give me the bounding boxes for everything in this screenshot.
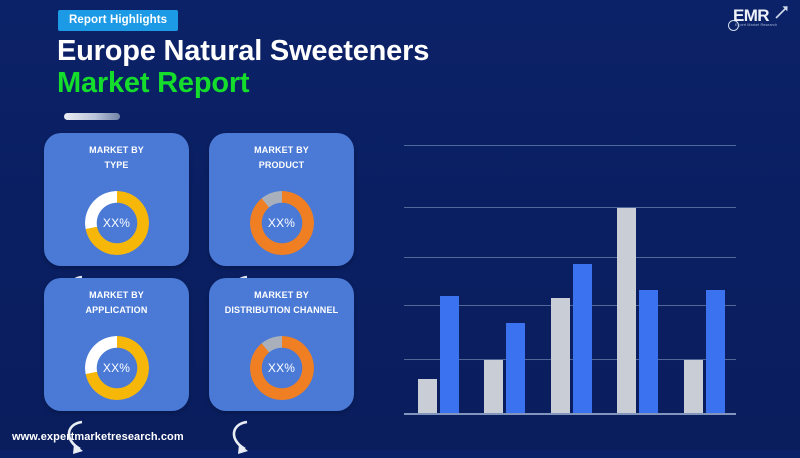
website-url: www.expertmarketresearch.com [12,431,184,443]
donut-value-3: XX% [250,336,314,400]
donut-chart-1: XX% [250,191,314,255]
card-market-by-application[interactable]: MARKET BY APPLICATION XX% [44,278,189,411]
card-title-line-1: MARKET BY [254,145,309,155]
card-title-0: MARKET BY TYPE [48,143,185,173]
growth-arrow-icon [774,4,790,20]
card-title-line-2: APPLICATION [86,305,148,315]
card-title-2: MARKET BY APPLICATION [48,288,185,318]
donut-chart-3: XX% [250,336,314,400]
chart-bar [573,264,592,414]
emr-logo: EMR Expert Market Research [728,4,792,34]
logo-wordmark: EMR [733,7,769,24]
curved-arrow-icon-4 [227,418,253,458]
card-title-line-2: PRODUCT [259,160,305,170]
donut-value-2: XX% [85,336,149,400]
title-underline-bar [64,113,120,120]
title-line-2: Market Report [57,67,429,99]
card-title-line-2: DISTRIBUTION CHANNEL [225,305,339,315]
card-market-by-type[interactable]: MARKET BY TYPE XX% [44,133,189,266]
chart-gridline [404,207,736,208]
card-market-by-distribution-channel[interactable]: MARKET BY DISTRIBUTION CHANNEL XX% [209,278,354,411]
card-title-line-1: MARKET BY [89,145,144,155]
chart-bar [639,290,658,413]
chart-bar [418,379,437,414]
chart-bar [706,290,725,413]
card-title-line-2: TYPE [104,160,128,170]
chart-bar [506,323,525,414]
chart-bar [484,360,503,413]
card-title-line-1: MARKET BY [254,290,309,300]
chart-bar [684,360,703,413]
donut-chart-0: XX% [85,191,149,255]
market-bar-chart [404,140,736,415]
chart-bar [617,208,636,414]
card-title-line-1: MARKET BY [89,290,144,300]
chart-gridline [404,145,736,146]
card-title-1: MARKET BY PRODUCT [213,143,350,173]
title-line-1: Europe Natural Sweeteners [57,36,429,67]
chart-gridline [404,257,736,258]
report-highlights-slide: Report Highlights Europe Natural Sweeten… [0,0,800,450]
donut-chart-2: XX% [85,336,149,400]
report-highlights-badge: Report Highlights [58,10,178,31]
chart-bar [440,296,459,414]
card-market-by-product[interactable]: MARKET BY PRODUCT XX% [209,133,354,266]
donut-value-1: XX% [250,191,314,255]
chart-axis-baseline [404,413,736,415]
market-segment-cards: MARKET BY TYPE XX% MARKET BY PRODUCT XX%… [44,133,374,418]
chart-bar [551,298,570,413]
page-title: Europe Natural Sweeteners Market Report [57,36,429,100]
logo-tagline: Expert Market Research [735,23,777,27]
donut-value-0: XX% [85,191,149,255]
card-title-3: MARKET BY DISTRIBUTION CHANNEL [213,288,350,318]
